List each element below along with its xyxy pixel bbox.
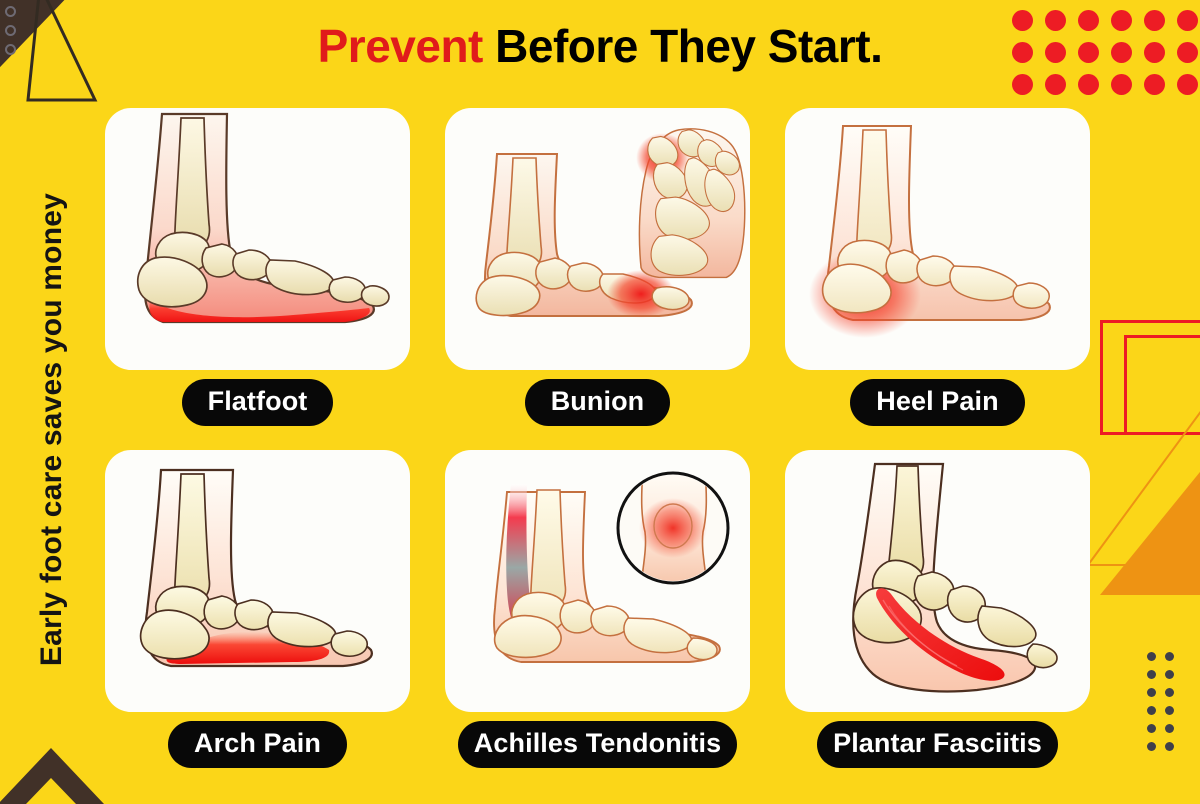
bunion-illustration xyxy=(445,108,750,370)
condition-card-plantar-fasciitis[interactable]: Plantar Fasciitis xyxy=(785,450,1090,780)
rectangle-outline-icon xyxy=(1124,335,1200,435)
rectangle-outline-icon xyxy=(1100,320,1200,435)
plantar-fascia-foot-skeleton-icon xyxy=(785,450,1090,712)
condition-label-achilles-tendonitis: Achilles Tendonitis xyxy=(458,721,737,768)
condition-grid: Flatfoot xyxy=(105,108,1090,780)
page-title-accent: Prevent xyxy=(318,20,483,72)
triangle-outline-icon xyxy=(1088,385,1200,585)
condition-label-bunion: Bunion xyxy=(525,379,671,426)
vertical-tagline: Early foot care saves you money xyxy=(22,110,82,750)
arch-pain-illustration xyxy=(105,450,410,712)
chevron-up-icon xyxy=(0,742,108,804)
bunion-foot-skeleton-icon xyxy=(445,108,750,370)
condition-label-heel-pain: Heel Pain xyxy=(850,379,1024,426)
condition-label-plantar-fasciitis: Plantar Fasciitis xyxy=(817,721,1058,768)
page-title-rest: Before They Start. xyxy=(483,20,883,72)
achilles-foot-skeleton-icon xyxy=(445,450,750,712)
condition-card-arch-pain[interactable]: Arch Pain xyxy=(105,450,410,780)
vertical-tagline-text: Early foot care saves you money xyxy=(35,193,69,666)
flatfoot-illustration xyxy=(105,108,410,370)
condition-card-heel-pain[interactable]: Heel Pain xyxy=(785,108,1090,438)
condition-card-flatfoot[interactable]: Flatfoot xyxy=(105,108,410,438)
flatfoot-foot-skeleton-icon xyxy=(105,108,410,370)
triangle-filled-icon xyxy=(1100,435,1200,615)
heel-pain-illustration xyxy=(785,108,1090,370)
condition-label-arch-pain: Arch Pain xyxy=(168,721,347,768)
arch-pain-foot-skeleton-icon xyxy=(105,450,410,712)
dark-dot-grid-icon xyxy=(1142,647,1178,755)
heel-pain-foot-skeleton-icon xyxy=(785,108,1090,370)
plantar-fasciitis-illustration xyxy=(785,450,1090,712)
condition-card-bunion[interactable]: Bunion xyxy=(445,108,750,438)
condition-label-flatfoot: Flatfoot xyxy=(182,379,334,426)
achilles-tendonitis-illustration xyxy=(445,450,750,712)
condition-card-achilles-tendonitis[interactable]: Achilles Tendonitis xyxy=(445,450,750,780)
page-title: Prevent Before They Start. xyxy=(0,20,1200,73)
